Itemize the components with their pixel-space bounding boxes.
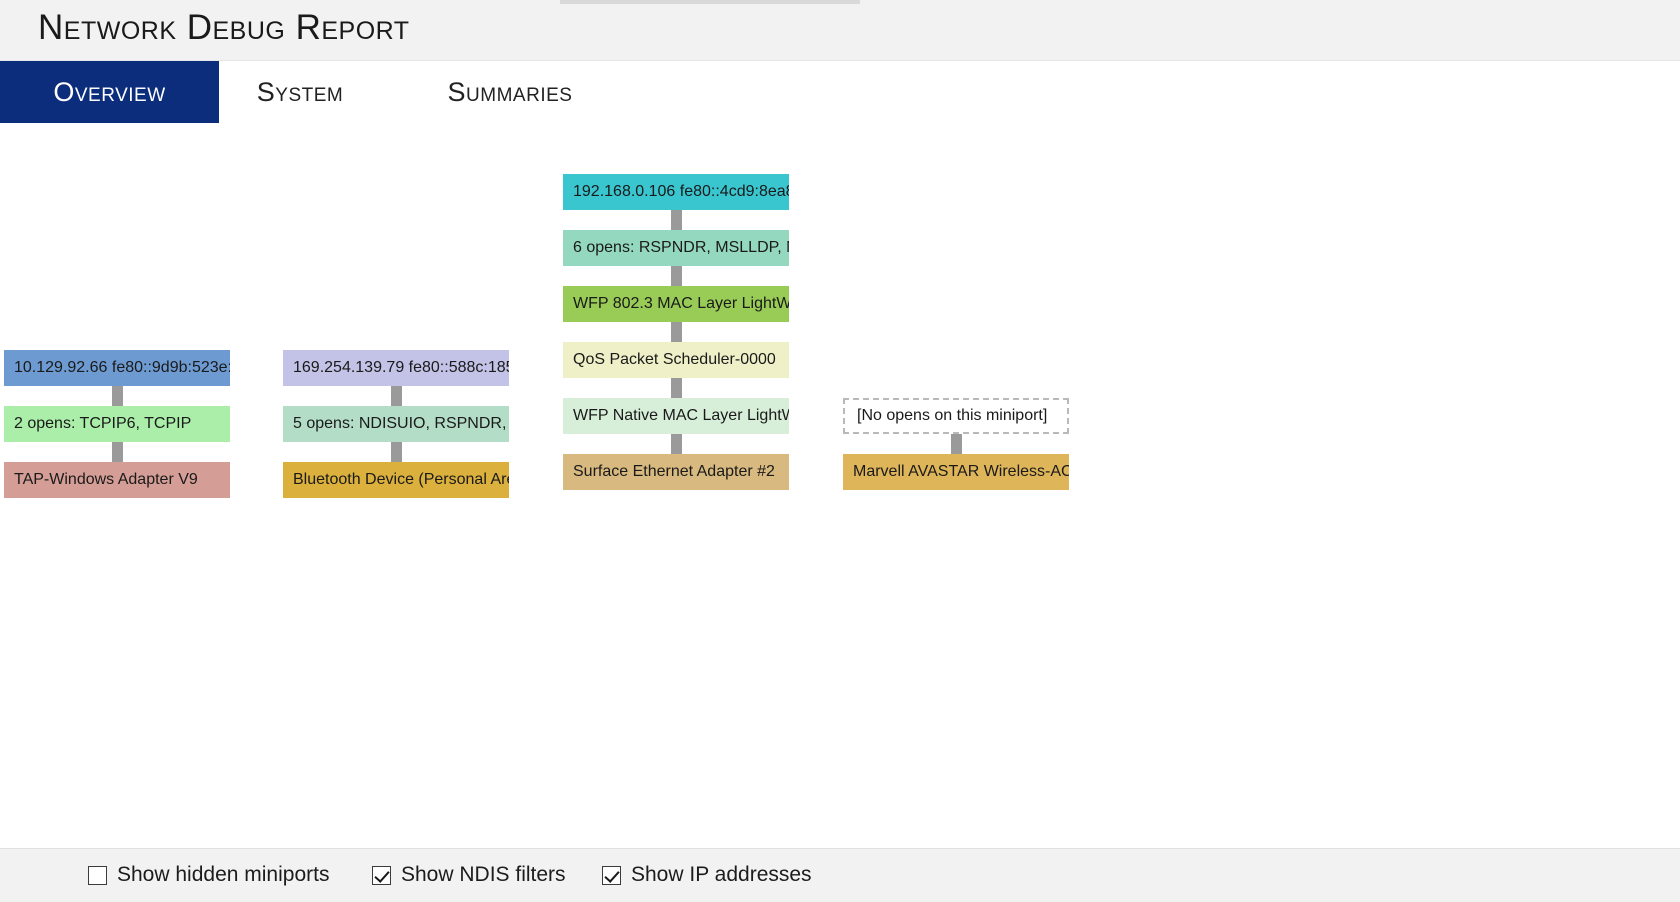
stack-node-label: 169.254.139.79 fe80::588c:1851:f711: [293,359,509,377]
tab-overview-label: Overview [53,77,165,108]
network-stack-diagram: 10.129.92.66 fe80::9d9b:523e:2d70:22 ope… [0,123,1680,848]
stack-node-label: 2 opens: TCPIP6, TCPIP [14,415,191,433]
tab-system-label: System [257,77,343,108]
marvell-avastar-column: [No opens on this miniport]Marvell AVAST… [843,123,1069,848]
stack-connector [391,386,402,406]
stack-connector [671,378,682,398]
checkbox-show-ip-addresses[interactable]: Show IP addresses [602,863,812,887]
footer-options-bar: Show hidden miniports Show NDIS filters … [0,848,1680,902]
tab-summaries-label: Summaries [448,77,573,108]
stack-node-label: TAP-Windows Adapter V9 [14,471,198,489]
stack-connector [671,210,682,230]
title-bar: Network Debug Report [0,0,1680,61]
page-title: Network Debug Report [38,8,410,48]
tab-summaries[interactable]: Summaries [425,61,595,123]
checkbox-label-show-ndis-filters: Show NDIS filters [401,863,566,887]
stack-node-miniport[interactable]: Bluetooth Device (Personal Area Net [283,462,509,498]
stack-node-ip-address[interactable]: 169.254.139.79 fe80::588c:1851:f711: [283,350,509,386]
stack-node-label: 192.168.0.106 fe80::4cd9:8ea8:2bc0:e [573,183,789,201]
bluetooth-device-column: 169.254.139.79 fe80::588c:1851:f711:5 op… [283,123,509,848]
stack-node-label: 6 opens: RSPNDR, MSLLDP, NDISUIO [573,239,789,257]
tab-bar: Overview System Summaries Help [0,61,1680,123]
tab-overview[interactable]: Overview [0,61,219,123]
stack-connector [671,434,682,454]
stack-node-filter[interactable]: WFP Native MAC Layer LightWeight [563,398,789,434]
stack-node-label: WFP 802.3 MAC Layer LightWeight Fi [573,295,789,313]
stack-node-label: 5 opens: NDISUIO, RSPNDR, LLTDIO, [293,415,509,433]
surface-ethernet-adapter-column: 192.168.0.106 fe80::4cd9:8ea8:2bc0:e6 op… [563,123,789,848]
stack-connector [671,266,682,286]
stack-node-label: Bluetooth Device (Personal Area Net [293,471,509,489]
stack-node-label: Marvell AVASTAR Wireless-AC Netw [853,463,1069,481]
stack-connector [951,434,962,454]
checkbox-label-show-hidden-miniports: Show hidden miniports [117,863,329,887]
checkbox-box-show-hidden-miniports[interactable] [88,866,107,885]
stack-node-miniport[interactable]: Marvell AVASTAR Wireless-AC Netw [843,454,1069,490]
stack-node-label: 10.129.92.66 fe80::9d9b:523e:2d70:2 [14,359,230,377]
stack-node-label: WFP Native MAC Layer LightWeight [573,407,789,425]
stack-connector [112,442,123,462]
stack-node-filter[interactable]: WFP 802.3 MAC Layer LightWeight Fi [563,286,789,322]
stack-connector [391,442,402,462]
stack-node-label: [No opens on this miniport] [857,407,1047,425]
stack-node-label: Surface Ethernet Adapter #2 [573,463,775,481]
stack-node-opens[interactable]: 2 opens: TCPIP6, TCPIP [4,406,230,442]
checkbox-label-show-ip-addresses: Show IP addresses [631,863,812,887]
stack-node-miniport[interactable]: TAP-Windows Adapter V9 [4,462,230,498]
tap-windows-adapter-column: 10.129.92.66 fe80::9d9b:523e:2d70:22 ope… [4,123,230,848]
checkbox-show-ndis-filters[interactable]: Show NDIS filters [372,863,566,887]
stack-node-ip-address[interactable]: 10.129.92.66 fe80::9d9b:523e:2d70:2 [4,350,230,386]
stack-connector [671,322,682,342]
stack-node-opens[interactable]: 5 opens: NDISUIO, RSPNDR, LLTDIO, [283,406,509,442]
stack-node-filter[interactable]: QoS Packet Scheduler-0000 [563,342,789,378]
stack-node-miniport[interactable]: Surface Ethernet Adapter #2 [563,454,789,490]
checkbox-box-show-ndis-filters[interactable] [372,866,391,885]
tab-system[interactable]: System [240,61,360,123]
title-bar-accent-strip [560,0,860,4]
stack-node-opens[interactable]: 6 opens: RSPNDR, MSLLDP, NDISUIO [563,230,789,266]
stack-connector [112,386,123,406]
stack-node-no-opens[interactable]: [No opens on this miniport] [843,398,1069,434]
stack-node-label: QoS Packet Scheduler-0000 [573,351,776,369]
checkbox-box-show-ip-addresses[interactable] [602,866,621,885]
stack-node-ip-address[interactable]: 192.168.0.106 fe80::4cd9:8ea8:2bc0:e [563,174,789,210]
checkbox-show-hidden-miniports[interactable]: Show hidden miniports [88,863,329,887]
